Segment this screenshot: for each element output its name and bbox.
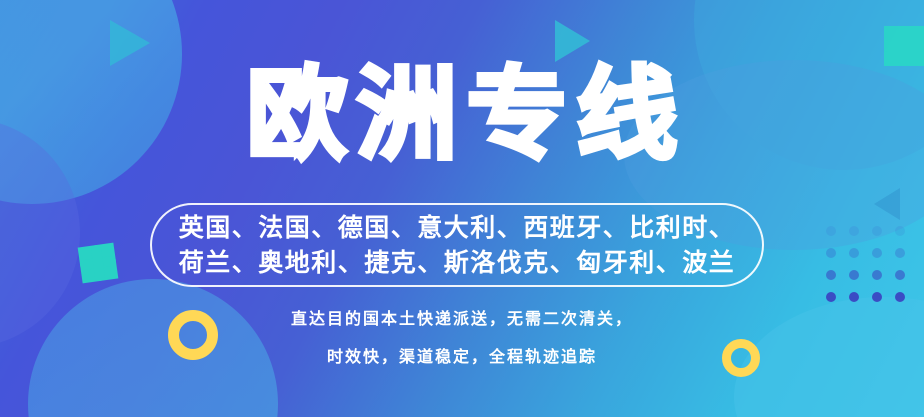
tagline-line-2: 时效快，渠道稳定，全程轨迹追踪 <box>0 338 924 376</box>
country-list-line-2: 荷兰、奥地利、捷克、斯洛伐克、匈牙利、波兰 <box>179 248 736 278</box>
country-list-box: 英国、法国、德国、意大利、西班牙、比利时、 荷兰、奥地利、捷克、斯洛伐克、匈牙利… <box>150 203 764 287</box>
banner-content: 欧洲专线 英国、法国、德国、意大利、西班牙、比利时、 荷兰、奥地利、捷克、斯洛伐… <box>0 0 924 417</box>
europe-line-promo-banner: 欧洲专线 英国、法国、德国、意大利、西班牙、比利时、 荷兰、奥地利、捷克、斯洛伐… <box>0 0 924 417</box>
tagline-line-1: 直达目的国本土快递派送，无需二次清关， <box>0 300 924 338</box>
country-list-line-1: 英国、法国、德国、意大利、西班牙、比利时、 <box>179 213 736 243</box>
banner-tagline: 直达目的国本土快递派送，无需二次清关， 时效快，渠道稳定，全程轨迹追踪 <box>0 300 924 375</box>
banner-headline: 欧洲专线 <box>0 62 924 168</box>
